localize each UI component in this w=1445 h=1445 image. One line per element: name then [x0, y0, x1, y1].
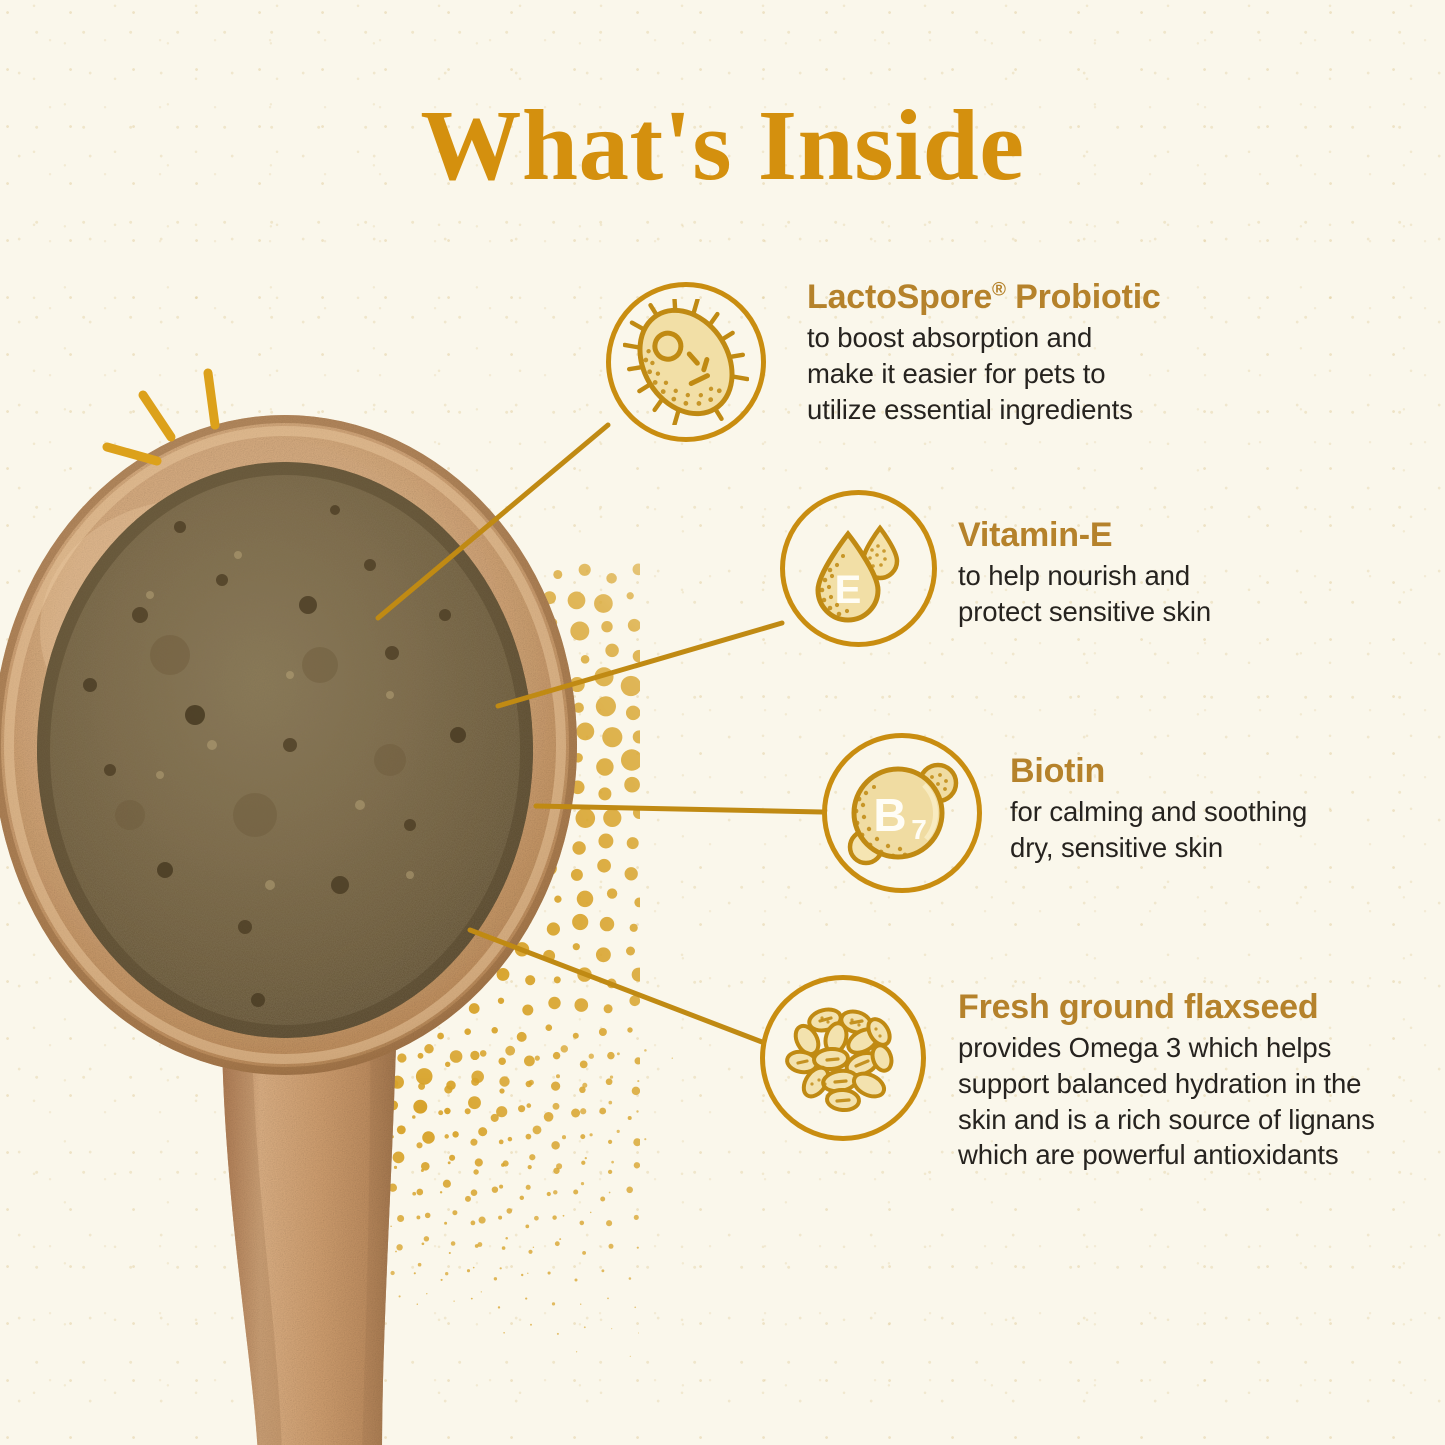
callout-heading-biotin: Biotin [1010, 752, 1410, 790]
callout-heading-vitamin-e: Vitamin-E [958, 516, 1388, 554]
flaxseed-cluster-icon [760, 975, 926, 1141]
callout-body-biotin: for calming and soothing dry, sensitive … [1010, 794, 1410, 866]
callout-body-flaxseed: provides Omega 3 which helps support bal… [958, 1030, 1418, 1173]
wooden-spoon-image [0, 415, 730, 1445]
biotin-letter: B [873, 789, 906, 841]
callout-heading-flaxseed: Fresh ground flaxseed [958, 988, 1418, 1026]
callout-text-flaxseed: Fresh ground flaxseed provides Omega 3 w… [958, 988, 1418, 1173]
callout-text-vitamin-e: Vitamin-E to help nourish and protect se… [958, 516, 1388, 630]
infographic-canvas: What's Inside [0, 0, 1445, 1445]
vitamin-e-letter: E [834, 568, 861, 612]
biotin-subscript: 7 [911, 814, 927, 845]
callout-text-lactospore: LactoSpore® Probiotic to boost absorptio… [807, 278, 1277, 427]
vitamin-e-droplet-icon: E [780, 490, 937, 647]
callout-heading-lactospore: LactoSpore® Probiotic [807, 278, 1277, 316]
page-title: What's Inside [0, 95, 1445, 196]
callout-text-biotin: Biotin for calming and soothing dry, sen… [1010, 752, 1410, 866]
biotin-b7-molecule-icon: B 7 [822, 733, 982, 893]
callout-body-lactospore: to boost absorption and make it easier f… [807, 320, 1277, 427]
callout-body-vitamin-e: to help nourish and protect sensitive sk… [958, 558, 1388, 630]
probiotic-bacteria-icon [606, 282, 766, 442]
